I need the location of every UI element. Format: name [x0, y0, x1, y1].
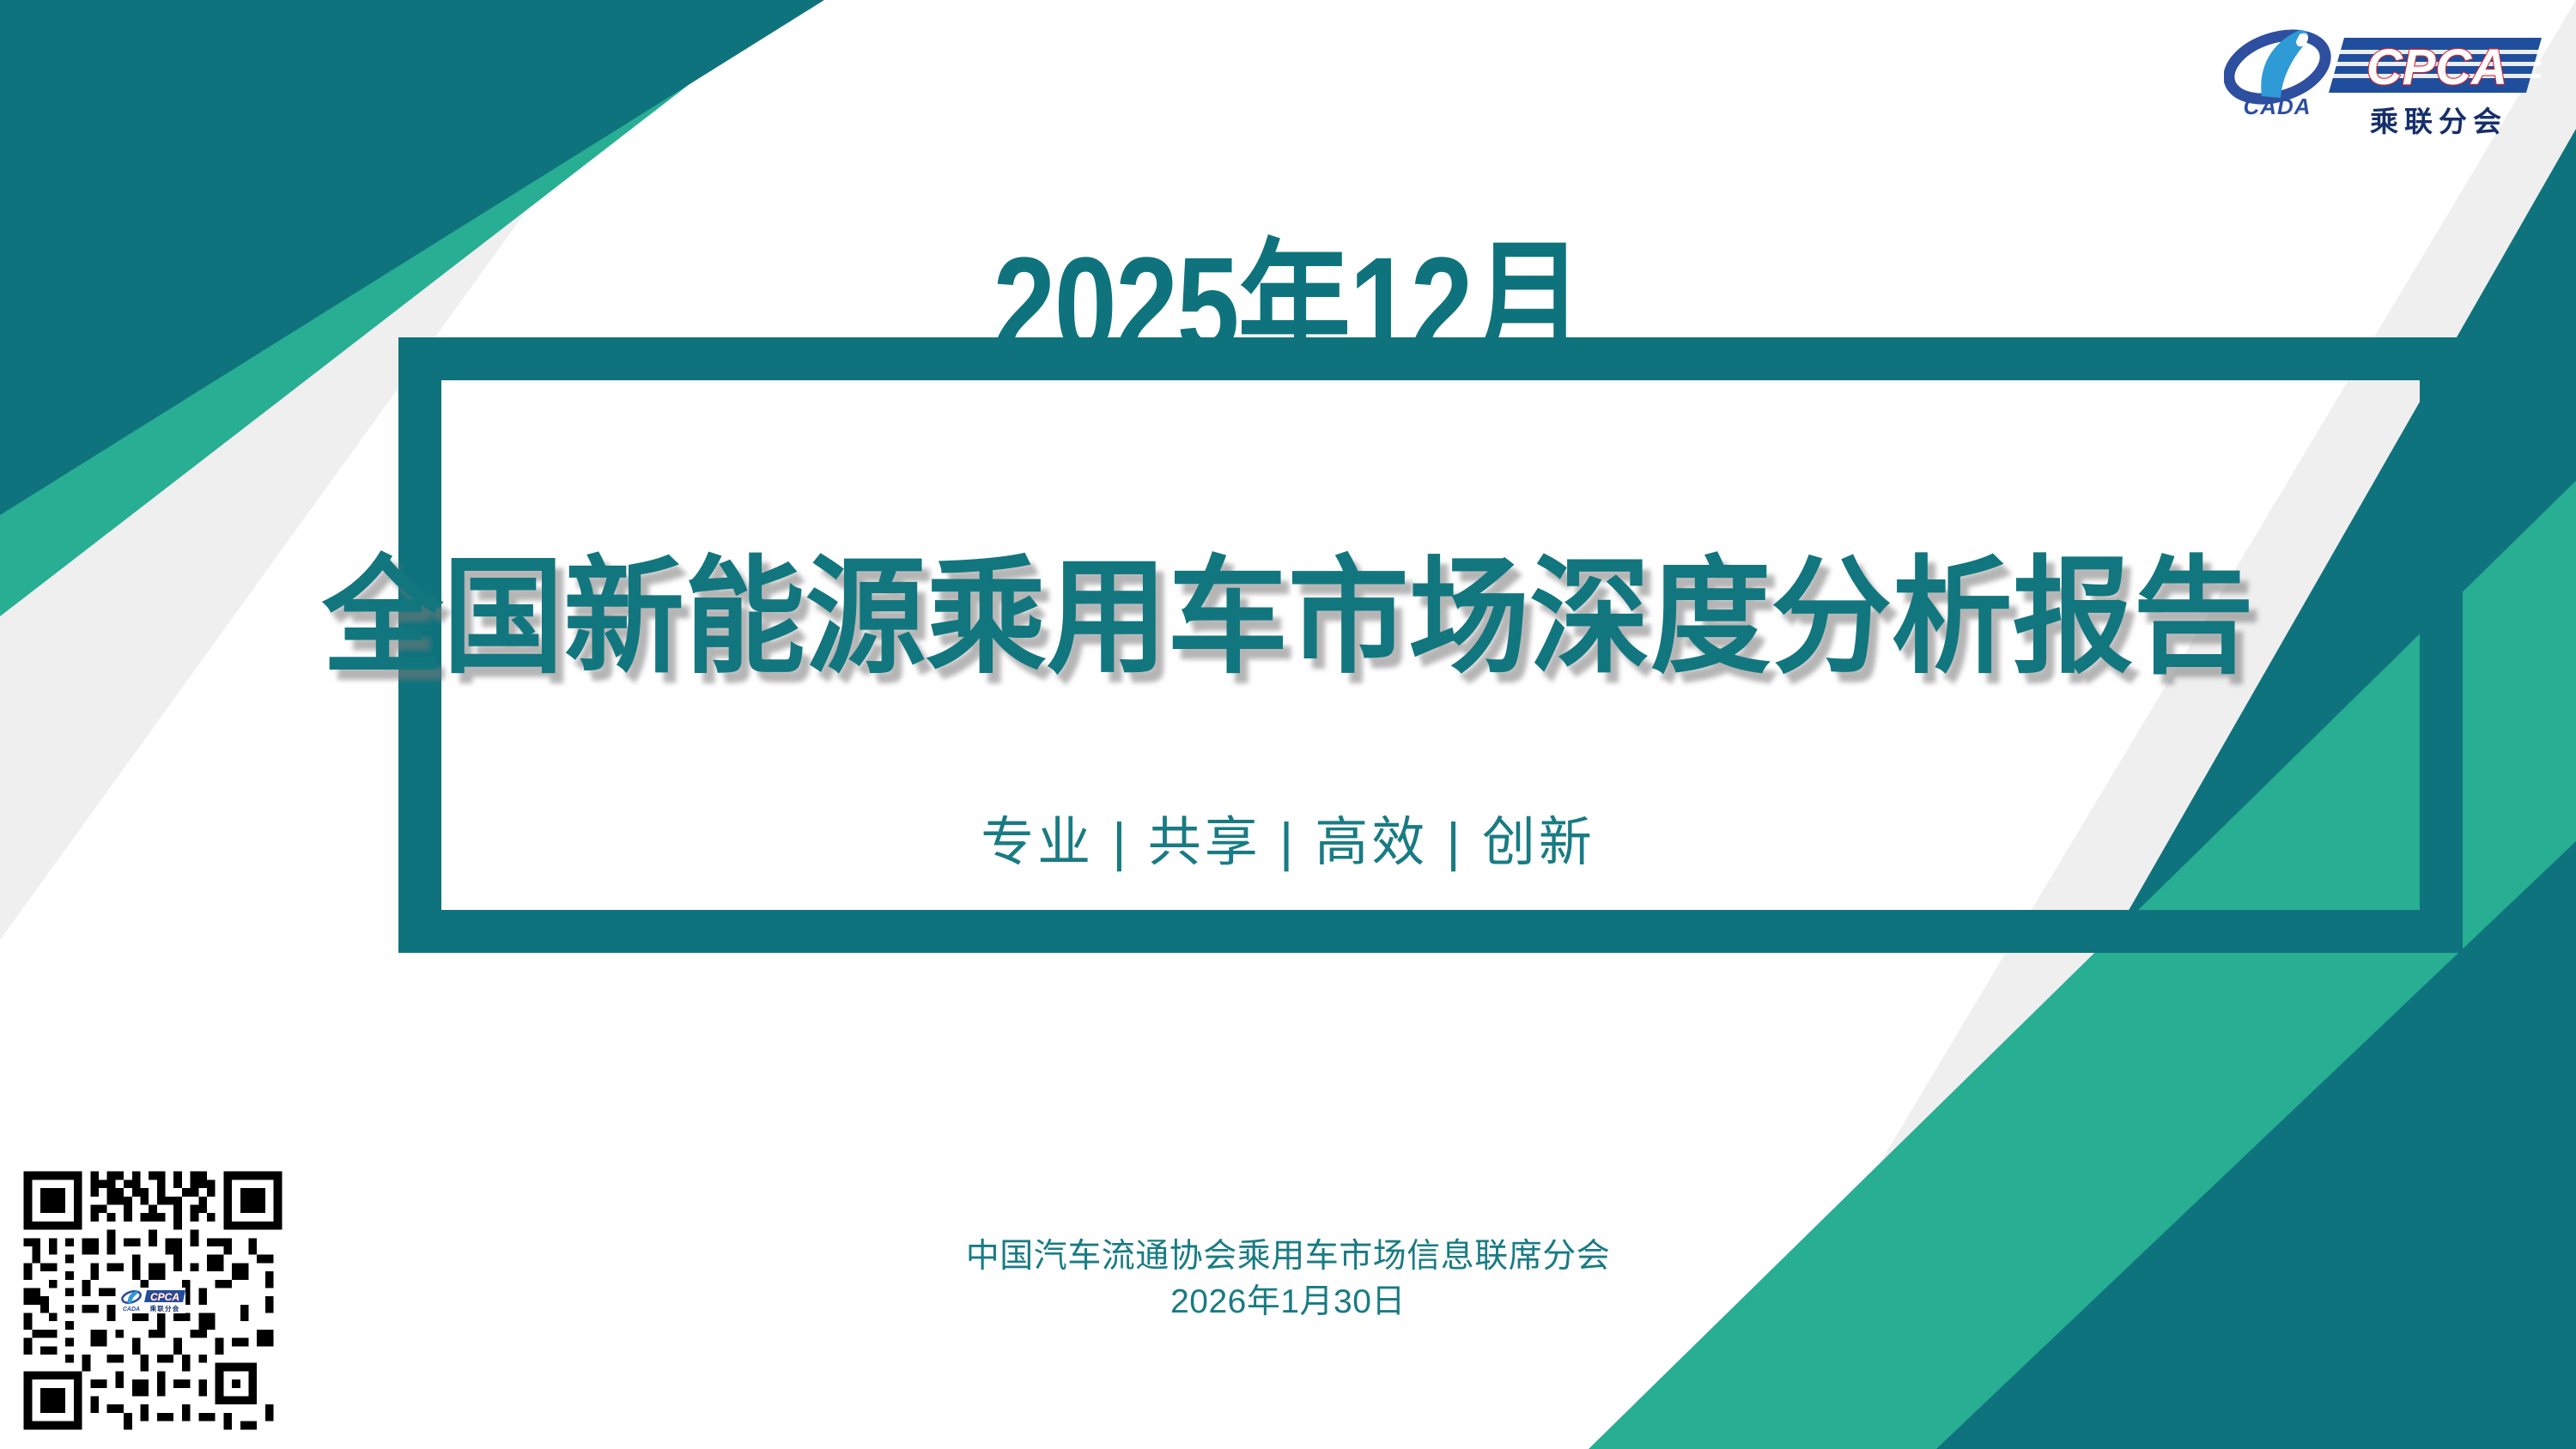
qr-logo-chinese-text: 乘联分会: [149, 1304, 180, 1313]
cada-wordmark: CADA: [2243, 94, 2311, 119]
footer-organization: 中国汽车流通协会乘用车市场信息联席分会: [0, 1234, 2576, 1280]
cpca-logo: CADA CPCA 乘联分会: [2224, 14, 2542, 142]
qr-center-logo-mark: CADA CPCA 乘联分会: [120, 1288, 185, 1313]
qr-center-logo: CADA CPCA 乘联分会: [120, 1288, 185, 1313]
footer: 中国汽车流通协会乘用车市场信息联席分会 2026年1月30日: [0, 1234, 2576, 1325]
report-date-heading: 2025年12月: [232, 237, 2344, 374]
qr-logo-cpca-text: CPCA: [150, 1291, 179, 1303]
slide-canvas: 2025年12月 全国新能源乘用车市场深度分析报告 专业 | 共享 | 高效 |…: [0, 0, 2576, 1449]
qr-code[interactable]: CADA CPCA 乘联分会: [15, 1163, 290, 1438]
cada-mark-icon: CADA: [2224, 24, 2334, 119]
page-title: 全国新能源乘用车市场深度分析报告: [64, 555, 2512, 682]
cpca-wordmark-text: CPCA: [2366, 39, 2507, 95]
cpca-chinese-subtitle: 乘联分会: [2370, 105, 2507, 138]
tagline: 专业 | 共享 | 高效 | 创新: [0, 811, 2576, 875]
qr-logo-cada-text: CADA: [123, 1307, 140, 1313]
cpca-wordmark-block: CPCA: [2329, 38, 2542, 95]
footer-date: 2026年1月30日: [0, 1280, 2576, 1325]
